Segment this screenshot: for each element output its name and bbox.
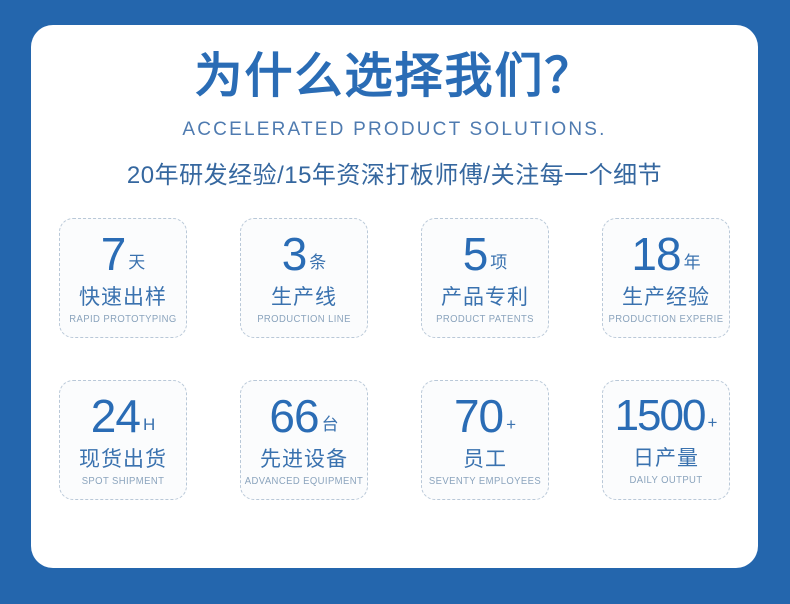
stat-card: 5 项 产品专利 PRODUCT PATENTS [421, 218, 549, 338]
stat-number: 5 [463, 231, 488, 277]
stat-number-row: 1500 + [615, 394, 718, 438]
stat-label-chinese: 先进设备 [260, 449, 348, 470]
stat-unit: 条 [309, 254, 326, 271]
stat-label-chinese: 员工 [463, 449, 507, 470]
stat-number-row: 5 项 [463, 231, 508, 277]
stat-card: 66 台 先进设备 ADVANCED EQUIPMENT [240, 380, 368, 500]
stat-label-english: PRODUCTION LINE [257, 315, 351, 325]
stat-number: 66 [269, 393, 318, 439]
stat-number-row: 24 H [91, 393, 155, 439]
stat-unit: + [506, 416, 516, 433]
stat-label-english: SPOT SHIPMENT [82, 477, 165, 487]
stat-number: 70 [454, 393, 503, 439]
stat-number: 1500 [615, 394, 705, 438]
stat-label-chinese: 产品专利 [441, 287, 529, 308]
stat-label-english: SEVENTY EMPLOYEES [429, 477, 541, 487]
stat-label-chinese: 现货出货 [79, 449, 167, 470]
poster-frame: 为什么选择我们？ ACCELERATED PRODUCT SOLUTIONS. … [0, 0, 790, 604]
stat-unit: + [707, 414, 717, 431]
content-panel: 为什么选择我们？ ACCELERATED PRODUCT SOLUTIONS. … [31, 25, 758, 568]
stat-number: 24 [91, 393, 140, 439]
stat-number: 3 [282, 231, 307, 277]
stat-label-english: DAILY OUTPUT [629, 476, 702, 486]
stat-unit: 天 [128, 254, 145, 271]
stat-label-english: ADVANCED EQUIPMENT [245, 477, 363, 487]
stat-card: 70 + 员工 SEVENTY EMPLOYEES [421, 380, 549, 500]
subtitle-english: ACCELERATED PRODUCT SOLUTIONS. [31, 119, 758, 141]
header: 为什么选择我们？ ACCELERATED PRODUCT SOLUTIONS. … [31, 25, 758, 190]
stat-card-grid: 7 天 快速出样 RAPID PROTOTYPING 3 条 生产线 PRODU… [59, 218, 730, 500]
stat-unit: H [143, 416, 155, 433]
stat-unit: 项 [490, 254, 507, 271]
stat-unit: 年 [684, 254, 701, 271]
stat-card: 7 天 快速出样 RAPID PROTOTYPING [59, 218, 187, 338]
stat-card: 24 H 现货出货 SPOT SHIPMENT [59, 380, 187, 500]
stat-label-chinese: 生产经验 [622, 287, 710, 308]
stat-card: 1500 + 日产量 DAILY OUTPUT [602, 380, 730, 500]
stat-label-chinese: 快速出样 [79, 287, 167, 308]
stat-number-row: 18 年 [631, 231, 700, 277]
stat-label-english: RAPID PROTOTYPING [69, 315, 176, 325]
stat-number-row: 7 天 [101, 231, 146, 277]
stat-label-english: PRODUCT PATENTS [436, 315, 534, 325]
stat-number-row: 66 台 [269, 393, 338, 439]
stat-number-row: 70 + [454, 393, 516, 439]
stat-label-english: PRODUCTION EXPERIE [609, 315, 724, 325]
page-title: 为什么选择我们？ [31, 51, 758, 103]
stat-label-chinese: 日产量 [633, 448, 699, 469]
stat-number-row: 3 条 [282, 231, 327, 277]
stat-card: 18 年 生产经验 PRODUCTION EXPERIE [602, 218, 730, 338]
stat-label-chinese: 生产线 [271, 287, 337, 308]
stat-unit: 台 [322, 416, 339, 433]
stat-number: 18 [631, 231, 680, 277]
subtitle-chinese: 20年研发经验/15年资深打板师傅/关注每一个细节 [31, 155, 758, 190]
stat-card: 3 条 生产线 PRODUCTION LINE [240, 218, 368, 338]
stat-number: 7 [101, 231, 126, 277]
